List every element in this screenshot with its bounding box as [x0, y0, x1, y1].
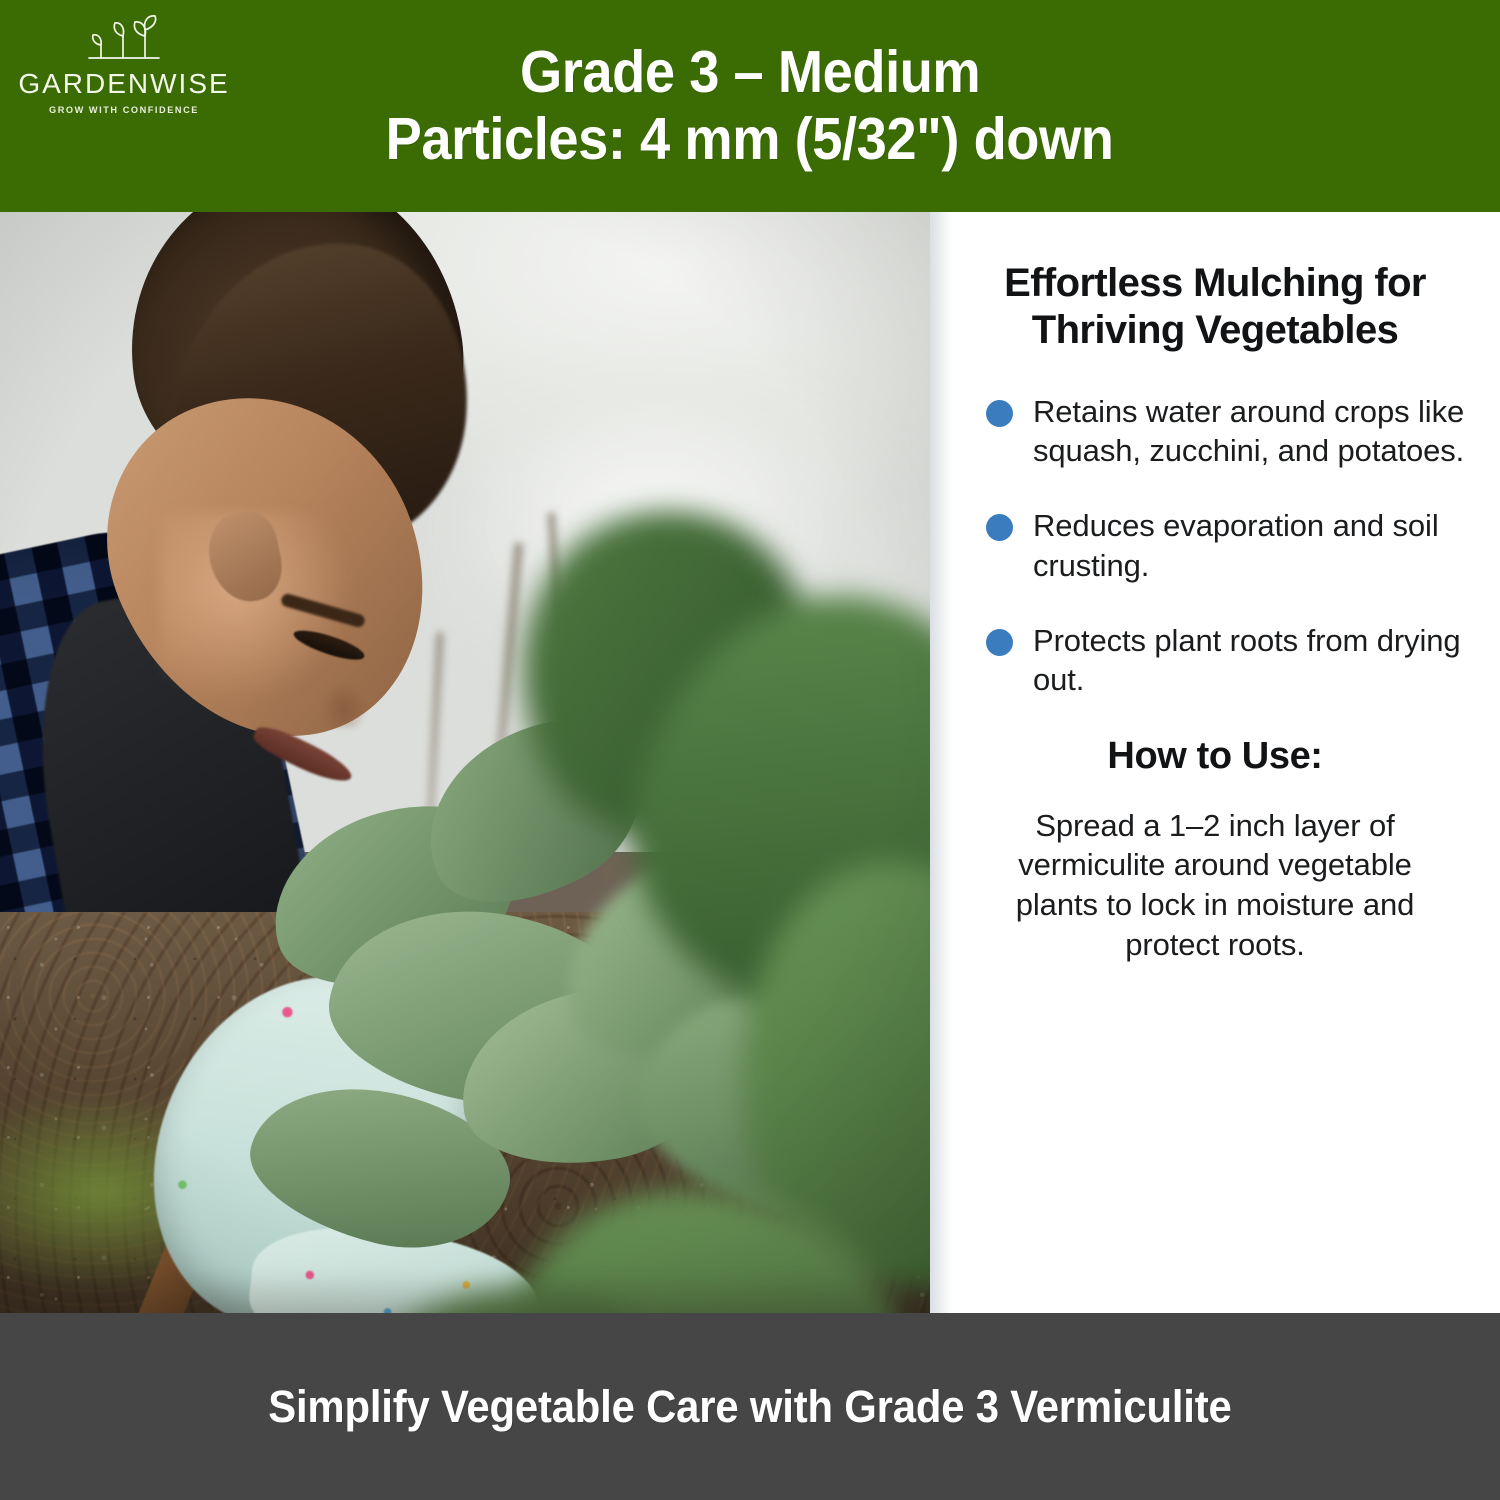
header-bar: GARDENWISE GROW WITH CONFIDENCE Grade 3 …	[0, 0, 1500, 212]
benefit-item: Reduces evaporation and soil crusting.	[986, 506, 1470, 584]
brand-logo: GARDENWISE GROW WITH CONFIDENCE	[8, 14, 240, 115]
infographic-poster: GARDENWISE GROW WITH CONFIDENCE Grade 3 …	[0, 0, 1500, 1500]
benefit-list: Retains water around crops like squash, …	[986, 392, 1470, 698]
header-title-line-2: Particles: 4 mm (5/32") down	[386, 106, 1114, 173]
bullet-dot-icon	[986, 514, 1013, 541]
benefit-item: Retains water around crops like squash, …	[986, 392, 1470, 470]
bullet-dot-icon	[986, 400, 1013, 427]
benefits-panel: Effortless Mulching for Thriving Vegetab…	[930, 212, 1500, 1313]
brand-name: GARDENWISE	[18, 70, 229, 98]
benefit-text: Protects plant roots from drying out.	[1033, 621, 1470, 699]
garden-photo	[0, 212, 930, 1313]
photo-foreground-soil-blur	[0, 1272, 930, 1313]
benefit-text: Reduces evaporation and soil crusting.	[1033, 506, 1470, 584]
footer-text: Simplify Vegetable Care with Grade 3 Ver…	[157, 1380, 1343, 1434]
benefit-item: Protects plant roots from drying out.	[986, 621, 1470, 699]
footer-bar: Simplify Vegetable Care with Grade 3 Ver…	[0, 1313, 1500, 1500]
photo-nose	[322, 682, 366, 728]
header-title-line-1: Grade 3 – Medium	[520, 39, 980, 106]
bullet-dot-icon	[986, 629, 1013, 656]
panel-title: Effortless Mulching for Thriving Vegetab…	[974, 260, 1456, 354]
brand-tagline: GROW WITH CONFIDENCE	[49, 106, 199, 115]
how-to-use-body: Spread a 1–2 inch layer of vermiculite a…	[978, 806, 1452, 965]
how-to-use-heading: How to Use:	[960, 735, 1470, 778]
sprout-leaves-icon	[79, 14, 169, 66]
benefit-text: Retains water around crops like squash, …	[1033, 392, 1470, 470]
